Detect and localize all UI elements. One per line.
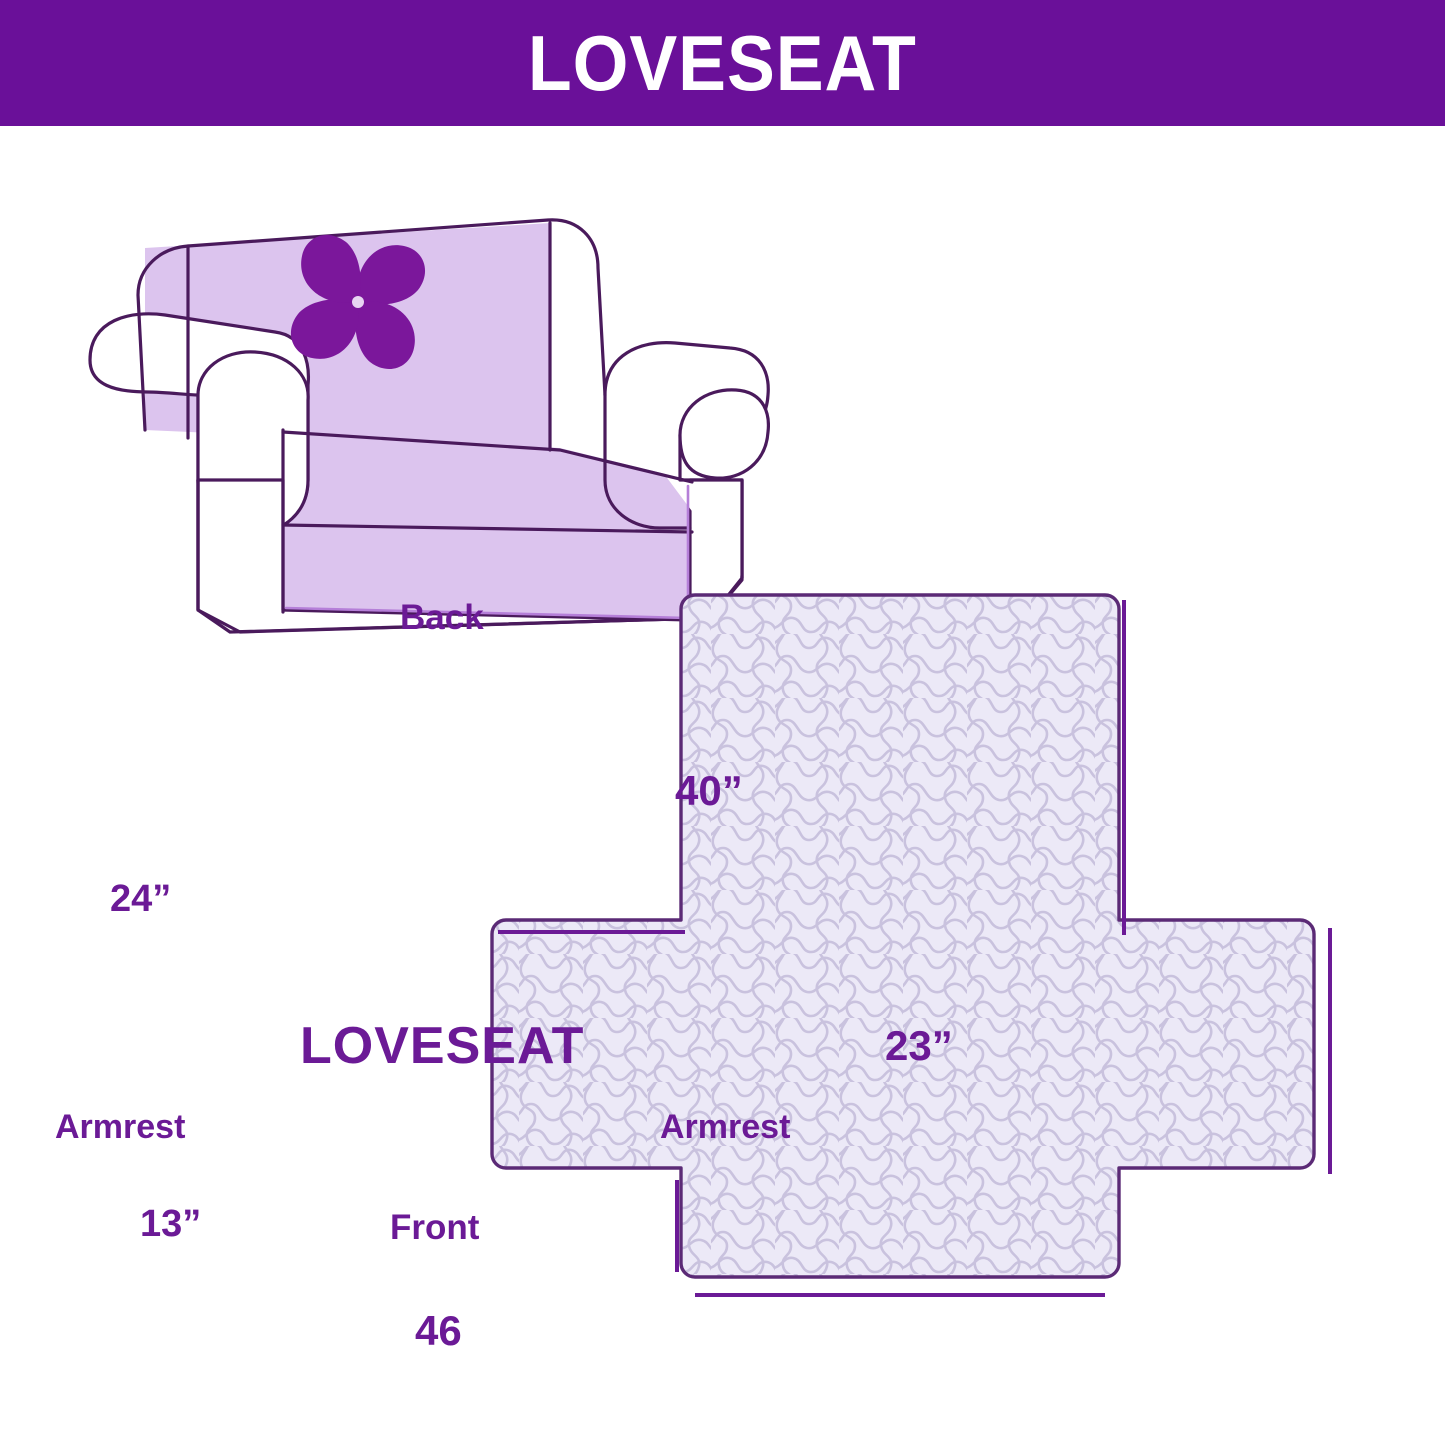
dimension-label-armrest-height: 23” xyxy=(885,1025,953,1067)
header-banner: LOVESEAT xyxy=(0,0,1445,126)
page-title: LOVESEAT xyxy=(528,24,917,102)
dimension-label-front-height: 13” xyxy=(140,1205,201,1243)
sofa-right-arm-roll xyxy=(680,390,768,478)
cover-diagram-svg xyxy=(455,570,1445,1360)
panel-label-back: Back xyxy=(400,600,484,635)
dimension-label-back-height: 40” xyxy=(675,770,743,812)
dimension-label-front-width: 46 xyxy=(415,1310,462,1352)
cover-center-label: LOVESEAT xyxy=(300,1020,584,1072)
cover-diagram xyxy=(455,570,1445,1360)
dimension-label-back-width: 24” xyxy=(110,880,171,918)
panel-label-armrest-right: Armrest xyxy=(660,1110,790,1144)
cover-cross-shape xyxy=(492,595,1314,1277)
panel-label-armrest-left: Armrest xyxy=(55,1110,185,1144)
panel-label-front: Front xyxy=(390,1210,479,1245)
